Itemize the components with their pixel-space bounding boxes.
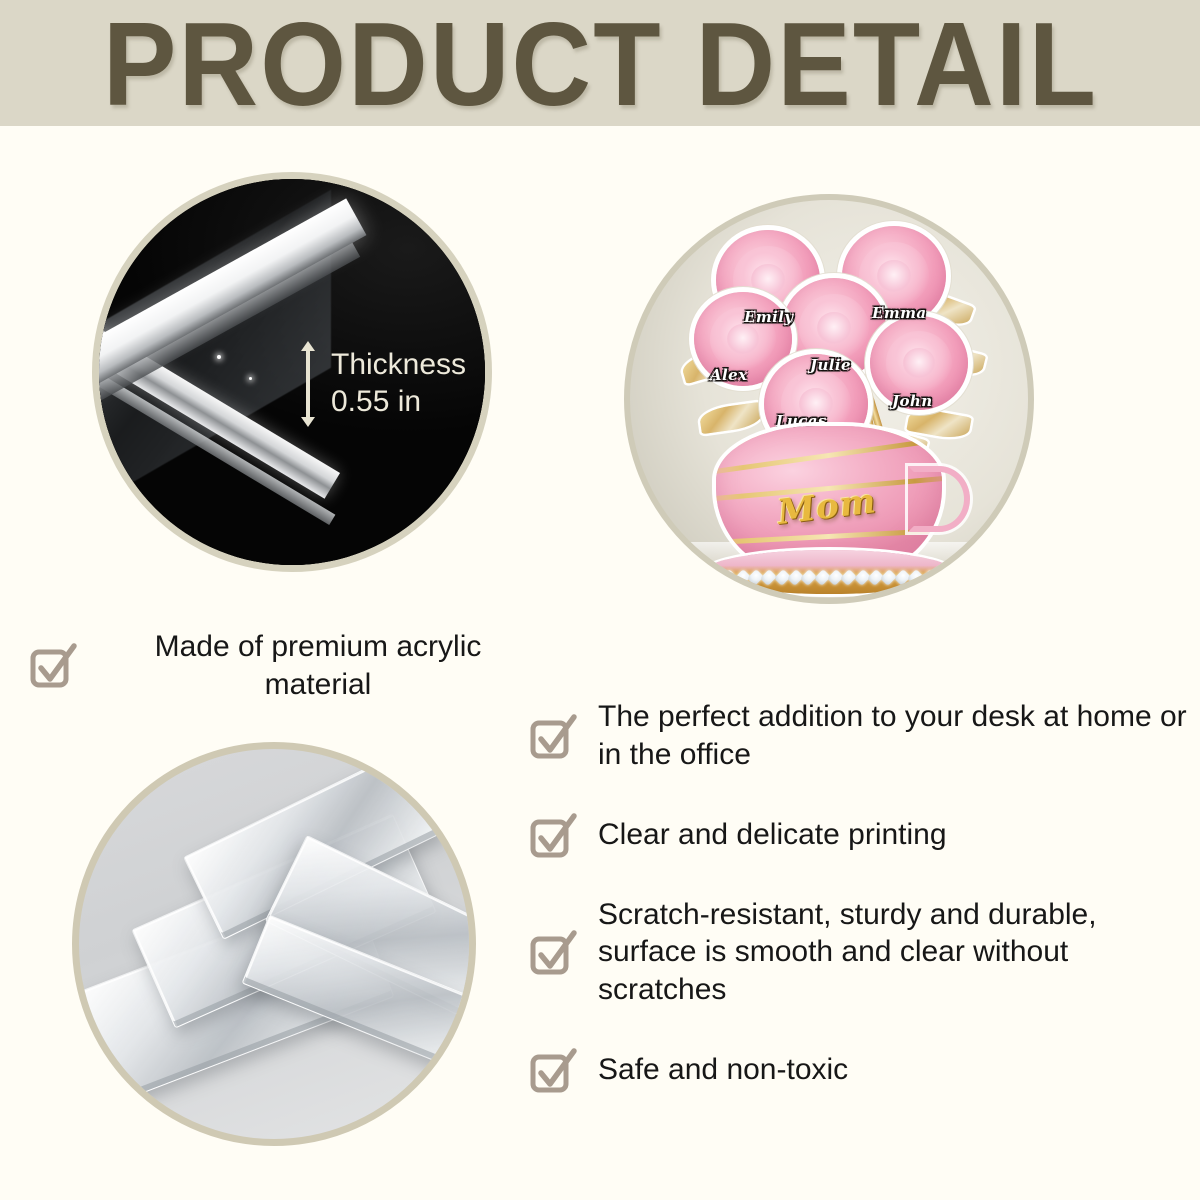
feature-item-text: The perfect addition to your desk at hom… [598,698,1188,774]
checkbox-check-icon [528,711,580,763]
checkbox-check-icon [528,1045,580,1097]
feature-item-text: Scratch-resistant, sturdy and durable, s… [598,896,1188,1009]
thickness-photo-circle: Thickness 0.55 in [92,172,492,572]
acrylic-standee: Emily Emma Alex Julie John Lucas Mom [664,216,994,594]
vase-handle [908,466,970,532]
rhinestone-base [704,550,954,594]
feature-item-text: Safe and non-toxic [598,1051,848,1089]
feature-item: Clear and delicate printing [528,808,1188,862]
feature-acrylic-text: Made of premium acrylic material [98,628,538,704]
sparkle-icon [249,377,252,380]
feature-acrylic: Made of premium acrylic material [28,628,568,704]
thickness-value: 0.55 in [331,384,466,421]
checkbox-check-icon [28,640,80,692]
checkbox-check-icon [528,927,580,979]
feature-item: Scratch-resistant, sturdy and durable, s… [528,896,1188,1009]
sparkle-icon [217,355,221,359]
feature-item-text: Clear and delicate printing [598,816,947,854]
page-header-band: PRODUCT DETAIL [0,0,1200,126]
thickness-callout: Thickness 0.55 in [299,341,466,427]
name-label-john: John [892,392,933,410]
checkbox-check-icon [528,810,580,862]
name-label-alex: Alex [710,366,747,384]
thickness-text: Thickness 0.55 in [331,347,466,420]
double-arrow-vertical-icon [299,341,317,427]
gold-leaf [699,402,764,434]
product-photo-circle: Emily Emma Alex Julie John Lucas Mom [624,194,1034,604]
rhinestone-row [710,570,948,585]
name-label-julie: Julie [810,356,851,374]
feature-item: The perfect addition to your desk at hom… [528,698,1188,774]
page-title: PRODUCT DETAIL [102,1,1097,124]
feature-item: Safe and non-toxic [528,1043,1188,1097]
thickness-label: Thickness [331,347,466,384]
feature-list: The perfect addition to your desk at hom… [528,698,1188,1097]
acrylic-sheets-photo-circle [72,742,476,1146]
name-label-emily: Emily [744,308,793,326]
name-label-emma: Emma [872,304,927,322]
gold-leaf [906,407,971,441]
